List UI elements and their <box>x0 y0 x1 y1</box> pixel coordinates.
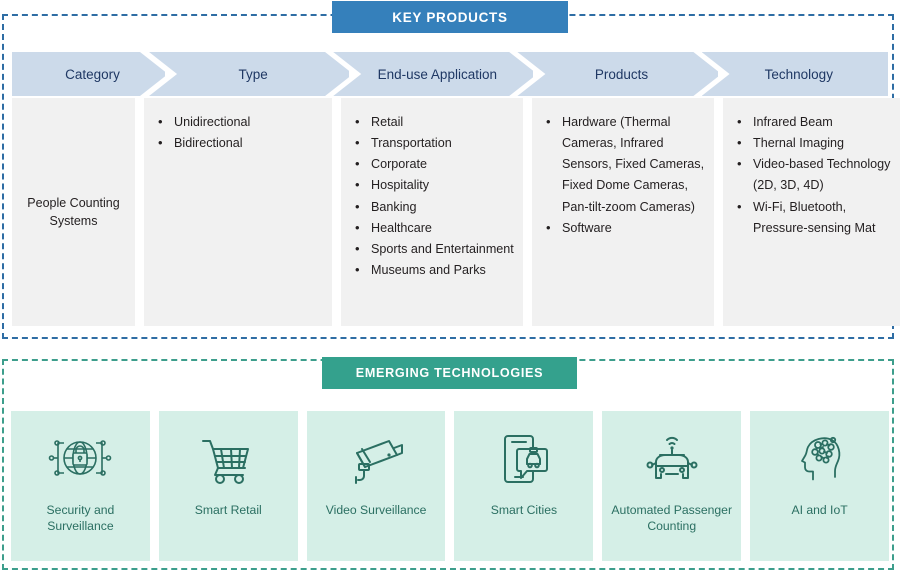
list-item: Video-based Technology (2D, 3D, 4D) <box>751 154 898 196</box>
list-item: Software <box>560 218 706 239</box>
list-item: Banking <box>369 197 515 218</box>
key-products-header-row: Category Type End-use Application Produc… <box>12 52 888 96</box>
panel-end-use-application: RetailTransportationCorporateHospitality… <box>341 98 523 326</box>
cctv-camera-icon <box>345 429 407 491</box>
list-item: Infrared Beam <box>751 112 898 133</box>
connected-car-icon <box>640 429 704 491</box>
chevron-header-products-label: Products <box>587 67 648 82</box>
panel-technology-list: Infrared BeamThernal ImagingVideo-based … <box>733 112 898 239</box>
chevron-header-category-label: Category <box>57 67 120 82</box>
list-item: Hardware (Thermal Cameras, Infrared Sens… <box>560 112 706 218</box>
panel-products-list: Hardware (Thermal Cameras, Infrared Sens… <box>542 112 706 239</box>
panel-end-use-application-list: RetailTransportationCorporateHospitality… <box>351 112 515 281</box>
tech-card-video-surveillance[interactable]: Video Surveillance <box>307 411 446 561</box>
chevron-header-end-use-application-label: End-use Application <box>370 67 497 82</box>
panel-products: Hardware (Thermal Cameras, Infrared Sens… <box>532 98 714 326</box>
chevron-header-category[interactable]: Category <box>12 52 165 96</box>
emerging-technologies-cards-row: Security and Surveillance Smart Retail <box>11 411 889 561</box>
tech-card-smart-cities[interactable]: Smart Cities <box>454 411 593 561</box>
list-item: Corporate <box>369 154 515 175</box>
tech-card-security-and-surveillance[interactable]: Security and Surveillance <box>11 411 150 561</box>
chevron-header-type[interactable]: Type <box>149 52 349 96</box>
panel-type-list: UnidirectionalBidirectional <box>154 112 324 154</box>
panel-type: UnidirectionalBidirectional <box>144 98 332 326</box>
tech-card-automated-passenger-counting[interactable]: Automated Passenger Counting <box>602 411 741 561</box>
panel-technology: Infrared BeamThernal ImagingVideo-based … <box>723 98 900 326</box>
shopping-cart-icon <box>198 429 258 491</box>
list-item: Healthcare <box>369 218 515 239</box>
emerging-technologies-banner-label: EMERGING TECHNOLOGIES <box>356 366 544 380</box>
list-item: Retail <box>369 112 515 133</box>
tech-card-label: Security and Surveillance <box>11 502 150 535</box>
panel-category-text: People Counting Systems <box>22 194 125 230</box>
tech-card-label: Smart Cities <box>485 502 563 518</box>
list-item: Museums and Parks <box>369 260 515 281</box>
tech-card-label: Video Surveillance <box>320 502 433 518</box>
globe-lock-network-icon <box>48 429 112 491</box>
list-item: Transportation <box>369 133 515 154</box>
list-item: Sports and Entertainment <box>369 239 515 260</box>
list-item: Unidirectional <box>172 112 324 133</box>
tech-card-label: Automated Passenger Counting <box>602 502 741 535</box>
list-item: Thernal Imaging <box>751 133 898 154</box>
emerging-technologies-banner: EMERGING TECHNOLOGIES <box>322 357 577 389</box>
tech-card-smart-retail[interactable]: Smart Retail <box>159 411 298 561</box>
smartphone-taxi-icon <box>495 429 553 491</box>
chevron-header-end-use-application[interactable]: End-use Application <box>333 52 533 96</box>
panel-category: People Counting Systems <box>12 98 135 326</box>
chevron-header-type-label: Type <box>231 67 268 82</box>
chevron-header-products[interactable]: Products <box>517 52 717 96</box>
chevron-header-technology-label: Technology <box>757 67 833 82</box>
key-products-banner: KEY PRODUCTS <box>332 1 568 33</box>
tech-card-label: Smart Retail <box>189 502 268 518</box>
head-brain-circuit-icon <box>791 429 849 491</box>
tech-card-label: AI and IoT <box>785 502 853 518</box>
key-products-banner-label: KEY PRODUCTS <box>392 10 507 25</box>
list-item: Bidirectional <box>172 133 324 154</box>
key-products-panel-row: People Counting Systems UnidirectionalBi… <box>12 98 888 326</box>
list-item: Hospitality <box>369 175 515 196</box>
tech-card-ai-and-iot[interactable]: AI and IoT <box>750 411 889 561</box>
chevron-header-technology[interactable]: Technology <box>702 52 888 96</box>
list-item: Wi-Fi, Bluetooth, Pressure-sensing Mat <box>751 197 898 239</box>
